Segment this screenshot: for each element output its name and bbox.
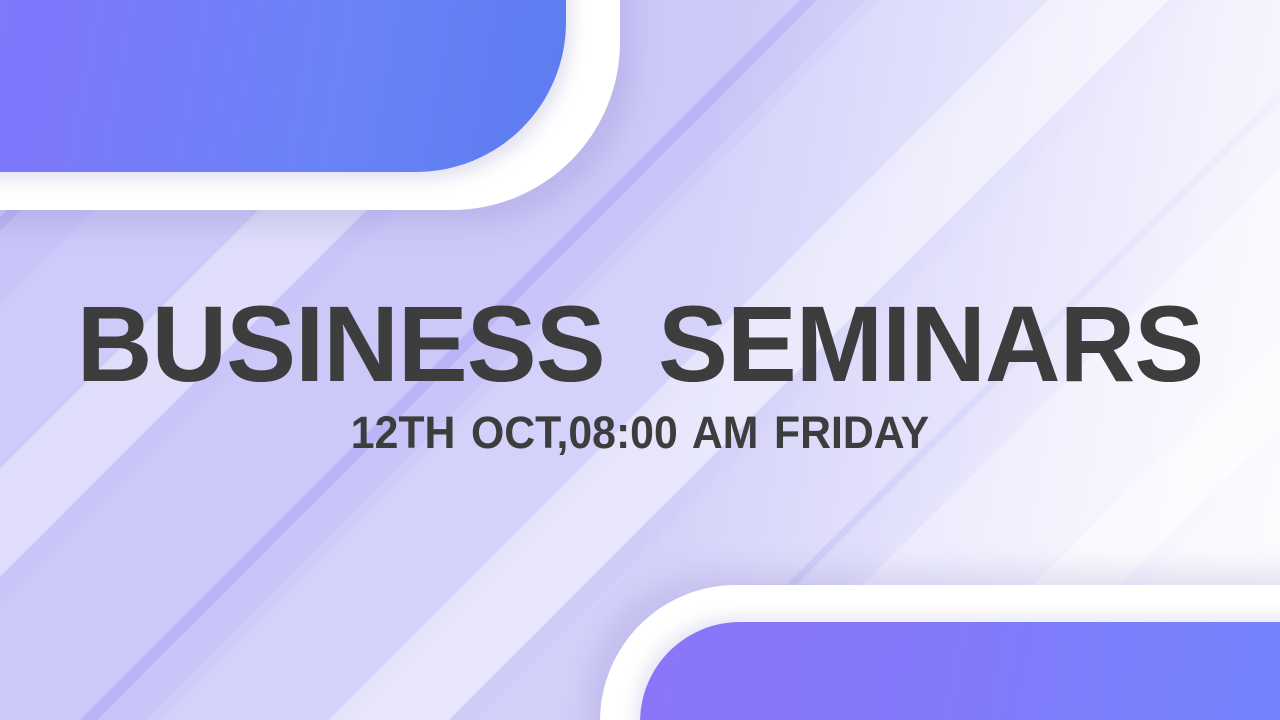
event-banner: BUSINESS SEMINARS 12TH OCT,08:00 AM FRID… — [0, 0, 1280, 720]
bottom-right-gradient-panel — [640, 622, 1280, 720]
event-datetime: 12TH OCT,08:00 AM FRIDAY — [32, 410, 1248, 456]
top-left-gradient-panel — [0, 0, 566, 172]
headline-block: BUSINESS SEMINARS 12TH OCT,08:00 AM FRID… — [0, 292, 1280, 456]
event-title: BUSINESS SEMINARS — [19, 292, 1261, 396]
